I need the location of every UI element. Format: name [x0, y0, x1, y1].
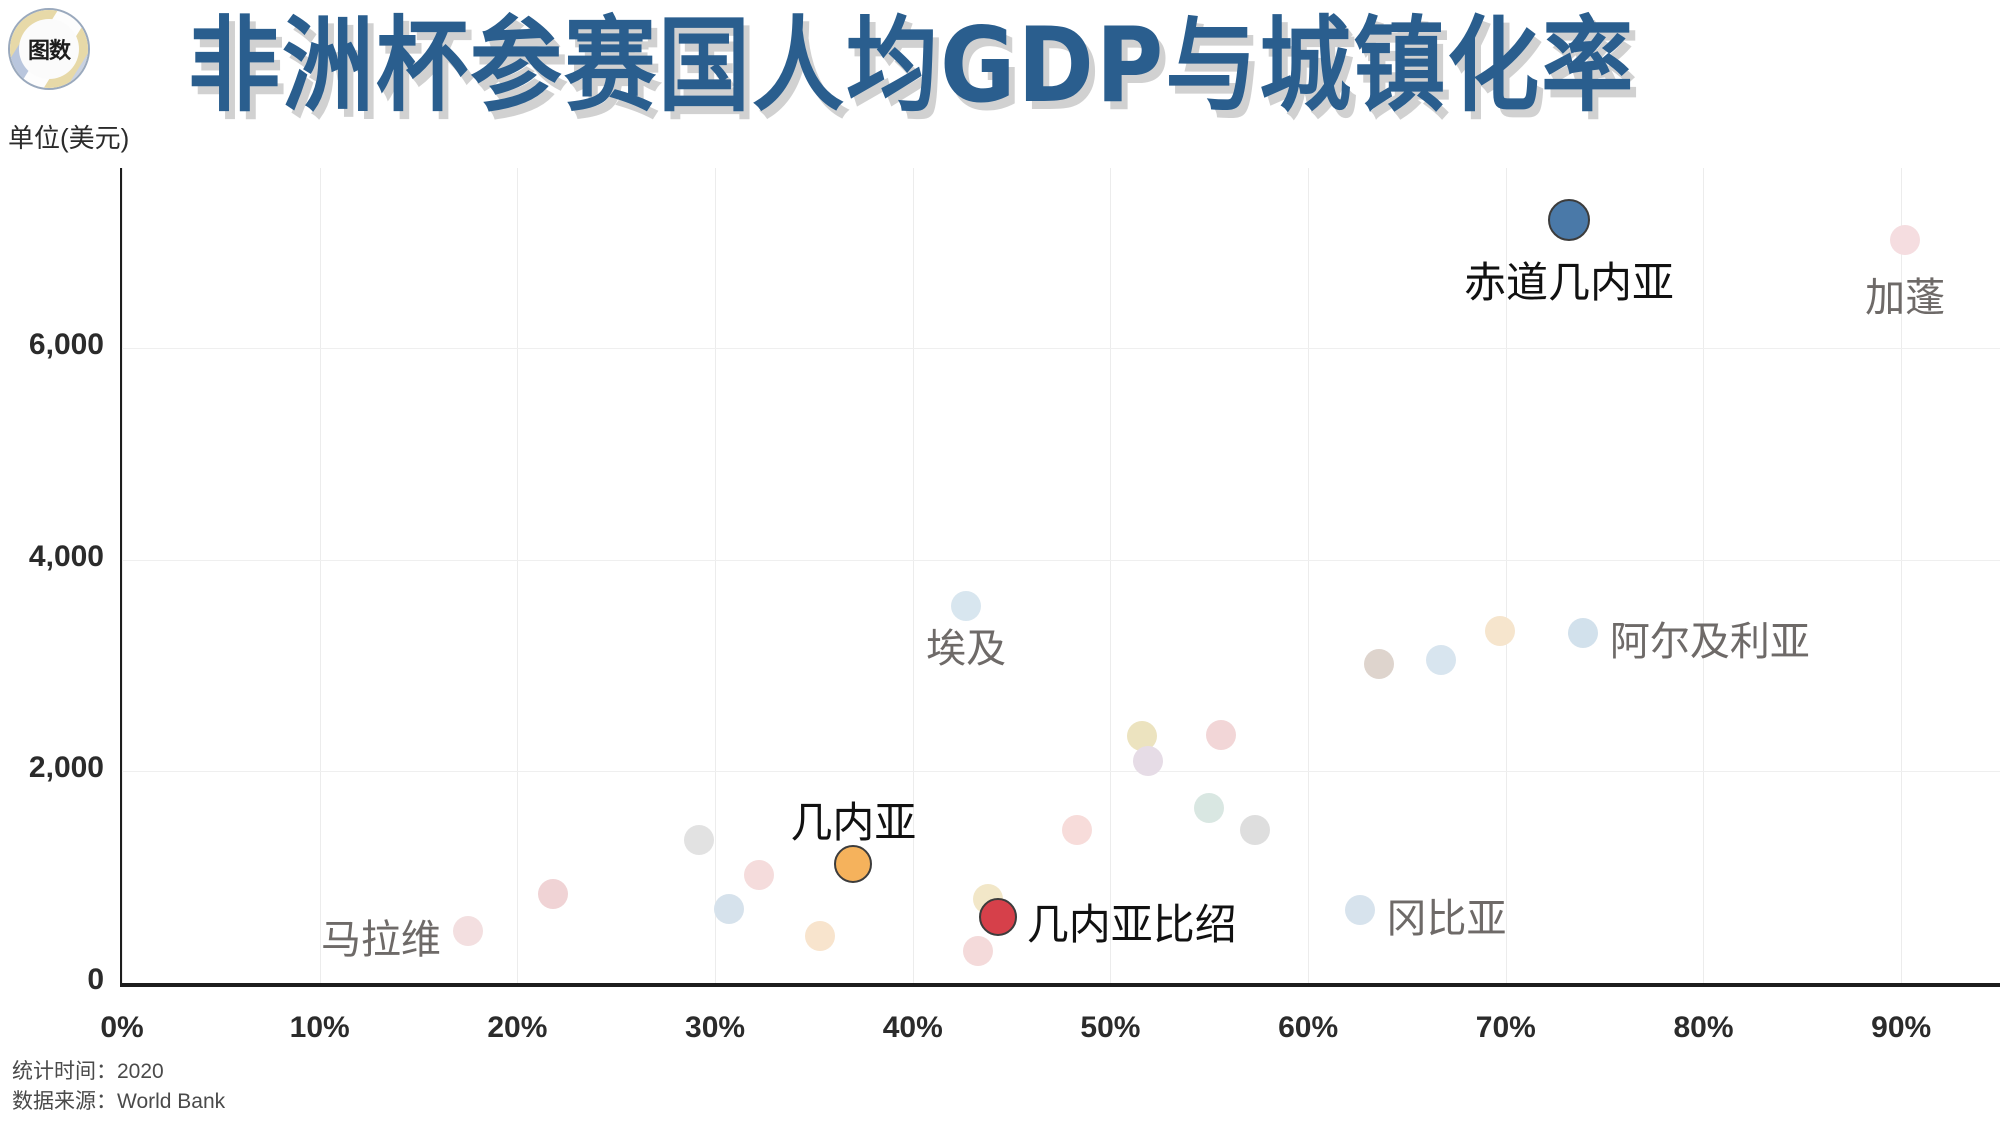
x-axis-tick-label: 0%: [100, 1011, 143, 1045]
point-label: 马拉维: [321, 907, 441, 965]
data-point-labeled[interactable]: [1548, 199, 1590, 241]
x-axis-tick-label: 60%: [1278, 1011, 1338, 1045]
data-point-labeled[interactable]: [834, 845, 872, 883]
x-axis-tick-label: 70%: [1476, 1011, 1536, 1045]
x-axis-tick-label: 50%: [1080, 1011, 1140, 1045]
y-gridline: [122, 560, 2000, 561]
footer-time: 统计时间：2020: [12, 1055, 164, 1085]
data-point[interactable]: [1206, 720, 1236, 750]
data-point-labeled[interactable]: [1345, 895, 1375, 925]
point-label: 阿尔及利亚: [1610, 609, 1810, 667]
x-axis-tick-label: 40%: [883, 1011, 943, 1045]
logo-text: 图数: [10, 10, 88, 88]
x-axis-tick-label: 30%: [685, 1011, 745, 1045]
data-point[interactable]: [1426, 645, 1456, 675]
data-point[interactable]: [1364, 649, 1394, 679]
y-gridline: [122, 771, 2000, 772]
x-axis-tick-label: 20%: [487, 1011, 547, 1045]
data-point[interactable]: [1485, 616, 1515, 646]
footer-source: 数据来源：World Bank: [12, 1085, 225, 1115]
logo-label: 图数: [28, 33, 70, 65]
point-label: 几内亚: [790, 789, 916, 850]
data-point[interactable]: [1133, 746, 1163, 776]
point-label: 赤道几内亚: [1464, 249, 1674, 310]
y-axis-tick-label: 2,000: [0, 751, 104, 785]
page-title: 非洲杯参赛国人均GDP与城镇化率: [188, 6, 1635, 127]
x-gridline: [715, 168, 716, 983]
data-point[interactable]: [538, 879, 568, 909]
data-point-labeled[interactable]: [979, 898, 1017, 936]
data-point[interactable]: [684, 825, 714, 855]
x-gridline: [1308, 168, 1309, 983]
data-point[interactable]: [1240, 815, 1270, 845]
data-point[interactable]: [744, 860, 774, 890]
x-gridline: [1703, 168, 1704, 983]
y-axis-tick-label: 4,000: [0, 540, 104, 574]
y-axis-unit-label: 单位(美元): [8, 118, 129, 155]
point-label: 埃及: [926, 616, 1006, 674]
x-gridline: [122, 168, 123, 983]
x-gridline: [913, 168, 914, 983]
data-point-labeled[interactable]: [1568, 618, 1598, 648]
data-point[interactable]: [1062, 815, 1092, 845]
y-gridline: [122, 348, 2000, 349]
x-axis-line: [120, 983, 2000, 987]
data-point[interactable]: [805, 921, 835, 951]
data-point-labeled[interactable]: [1890, 225, 1920, 255]
x-axis-tick-label: 90%: [1871, 1011, 1931, 1045]
x-gridline: [517, 168, 518, 983]
x-axis-tick-label: 80%: [1673, 1011, 1733, 1045]
point-label: 加蓬: [1865, 265, 1945, 323]
plot-area: 0%10%20%30%40%50%60%70%80%90%02,0004,000…: [122, 168, 2000, 983]
x-gridline: [1110, 168, 1111, 983]
y-axis-tick-label: 0: [0, 963, 104, 997]
data-point[interactable]: [963, 936, 993, 966]
point-label: 几内亚比绍: [1027, 891, 1237, 952]
chart-canvas: 图数 非洲杯参赛国人均GDP与城镇化率 单位(美元) 0%10%20%30%40…: [0, 0, 2000, 1125]
point-label: 冈比亚: [1387, 886, 1507, 944]
brand-logo: 图数: [8, 8, 90, 90]
data-point[interactable]: [1194, 793, 1224, 823]
data-point[interactable]: [714, 894, 744, 924]
x-axis-tick-label: 10%: [290, 1011, 350, 1045]
y-axis-tick-label: 6,000: [0, 328, 104, 362]
data-point-labeled[interactable]: [453, 916, 483, 946]
x-gridline: [320, 168, 321, 983]
